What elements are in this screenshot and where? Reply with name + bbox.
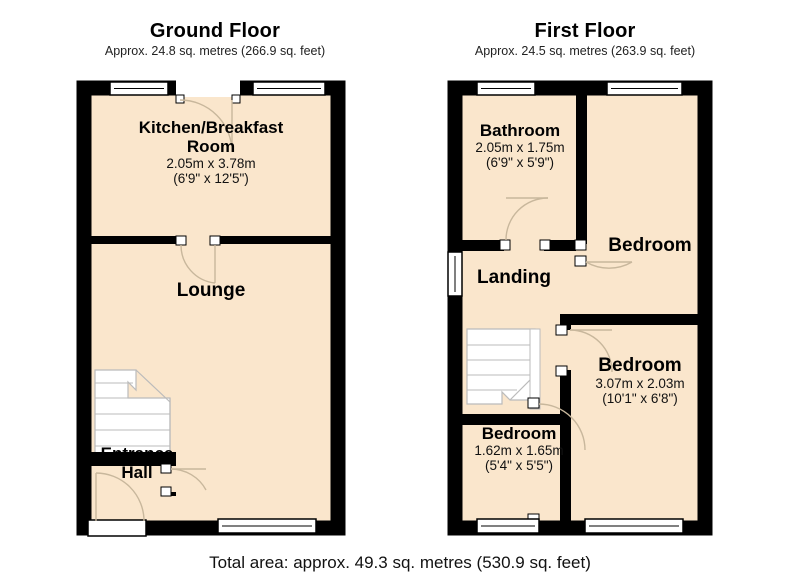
room-label-landing: Landing [462,267,566,288]
room-dim-bathroom-imperial: (6'9" x 5'9") [460,155,580,170]
room-name-lounge: Lounge [88,280,334,301]
floor-plan-canvas: Ground Floor Approx. 24.8 sq. metres (26… [0,0,800,582]
door-jamb-bedroom2-bottom [556,366,567,376]
room-name-bedroom-3: Bedroom [460,424,578,443]
door-jamb-kitchen-right [210,236,220,245]
window-ground-top-right [253,82,325,95]
window-ground-top-left [110,82,168,95]
room-label-entrance-hall: Entrance Hall [82,444,192,482]
room-dim-bathroom-metric: 2.05m x 1.75m [460,140,580,155]
room-dim-bedroom-2-imperial: (10'1" x 6'8") [578,391,702,406]
door-jamb-kitchen-left [176,236,186,245]
doorway-ground-rear [176,80,240,97]
window-first-bottom-right [585,519,683,533]
room-name-kitchen-line1: Kitchen/Breakfast [88,118,334,137]
room-name-hall: Hall [82,463,192,482]
room-label-bathroom: Bathroom 2.05m x 1.75m (6'9" x 5'9") [460,121,580,170]
door-jamb-bedroom1-top [575,240,586,250]
window-first-top-right [607,82,682,95]
room-label-lounge: Lounge [88,280,334,301]
wall-bedroom1-bedroom2 [560,314,705,325]
room-dim-bedroom-3-imperial: (5'4" x 5'5") [460,458,578,473]
room-name-landing: Landing [462,267,566,288]
room-dim-bedroom-3-metric: 1.62m x 1.65m [460,443,578,458]
front-door-ground [88,520,146,536]
door-jamb-rear-right [232,95,240,103]
wall-bathroom-bedroom-vertical [576,95,587,247]
door-jamb-bedroom1-bottom [575,256,586,266]
door-jamb-bedroom2-top [556,325,567,335]
window-first-bottom-left [477,519,539,533]
room-name-entrance: Entrance [82,444,192,463]
room-label-kitchen-breakfast-room: Kitchen/Breakfast Room 2.05m x 3.78m (6'… [88,118,334,186]
room-dim-kitchen-imperial: (6'9" x 12'5") [88,171,334,186]
doorway-bedroom2 [558,330,572,370]
room-name-bedroom-1: Bedroom [590,235,710,256]
room-label-bedroom-1: Bedroom [590,235,710,256]
door-jamb-bedroom3-top [528,398,539,408]
room-name-bedroom-2: Bedroom [578,355,702,376]
room-dim-bedroom-2-metric: 3.07m x 2.03m [578,376,702,391]
room-dim-kitchen-metric: 2.05m x 3.78m [88,156,334,171]
door-jamb-bathroom-right [540,240,550,250]
room-label-bedroom-3: Bedroom 1.62m x 1.65m (5'4" x 5'5") [460,424,578,473]
room-name-bathroom: Bathroom [460,121,580,140]
door-jamb-bathroom-left [500,240,510,250]
room-name-kitchen-line2: Room [88,137,334,156]
room-label-bedroom-2: Bedroom 3.07m x 2.03m (10'1" x 6'8") [578,355,702,406]
total-area-text: Total area: approx. 49.3 sq. metres (530… [0,553,800,573]
window-first-left-landing [448,252,462,296]
window-ground-bottom [218,519,316,533]
door-jamb-hall-bottom [161,487,171,496]
window-first-top-left [477,82,535,95]
door-jamb-rear-left [176,95,184,103]
